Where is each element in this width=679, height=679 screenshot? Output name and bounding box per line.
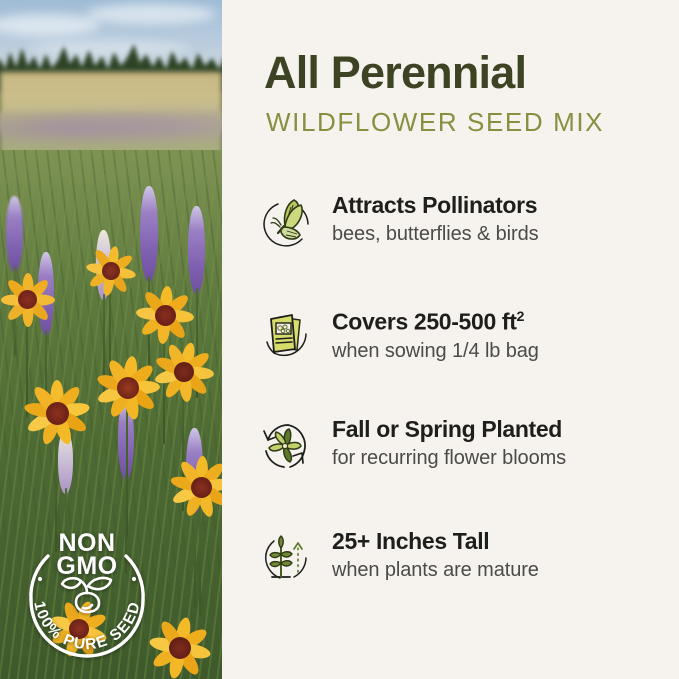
feature-row: 25+ Inches Tall when plants are mature	[222, 522, 679, 634]
page-title: All Perennial	[264, 46, 526, 100]
feature-title: 25+ Inches Tall	[332, 526, 672, 556]
feature-text: Fall or Spring Planted for recurring flo…	[332, 414, 672, 472]
butterfly-icon	[258, 194, 314, 250]
feature-row: Covers 250-500 ft2 when sowing 1/4 lb ba…	[222, 298, 679, 410]
seed-packet-icon	[258, 306, 314, 362]
feature-title: Fall or Spring Planted	[332, 414, 672, 444]
feature-row: Fall or Spring Planted for recurring flo…	[222, 410, 679, 522]
feature-text: Covers 250-500 ft2 when sowing 1/4 lb ba…	[332, 302, 672, 365]
feature-subtitle: for recurring flower blooms	[332, 444, 672, 472]
feature-title: Attracts Pollinators	[332, 190, 672, 220]
feature-title-main: Covers 250-500 ft	[332, 309, 517, 335]
feature-title-superscript: 2	[517, 309, 525, 325]
badge-line2: GMO	[56, 552, 117, 580]
flower-cycle-icon	[258, 418, 314, 474]
plant-height-icon	[258, 530, 314, 586]
sprout-seed-icon	[62, 578, 111, 612]
feature-subtitle: when sowing 1/4 lb bag	[332, 337, 672, 365]
cloud	[86, 4, 216, 24]
yellow-coneflower	[0, 268, 60, 332]
product-infographic: NON GMO 100% PURE SEED All Perennial WIL	[0, 0, 679, 679]
page-subtitle: WILDFLOWER SEED MIX	[266, 106, 604, 138]
feature-text: Attracts Pollinators bees, butterflies &…	[332, 190, 672, 248]
yellow-coneflower	[20, 376, 94, 450]
yellow-coneflower	[166, 452, 222, 522]
non-gmo-badge: NON GMO 100% PURE SEED	[18, 522, 156, 660]
distant-purple-flowers	[0, 104, 222, 152]
feature-list: Attracts Pollinators bees, butterflies &…	[222, 186, 679, 634]
yellow-coneflower	[150, 338, 218, 406]
feature-title: Covers 250-500 ft2	[332, 302, 672, 337]
content-panel: All Perennial WILDFLOWER SEED MIX	[222, 0, 679, 679]
feature-row: Attracts Pollinators bees, butterflies &…	[222, 186, 679, 298]
feature-subtitle: bees, butterflies & birds	[332, 220, 672, 248]
feature-text: 25+ Inches Tall when plants are mature	[332, 526, 672, 584]
product-photo: NON GMO 100% PURE SEED	[0, 0, 222, 679]
feature-subtitle: when plants are mature	[332, 556, 672, 584]
